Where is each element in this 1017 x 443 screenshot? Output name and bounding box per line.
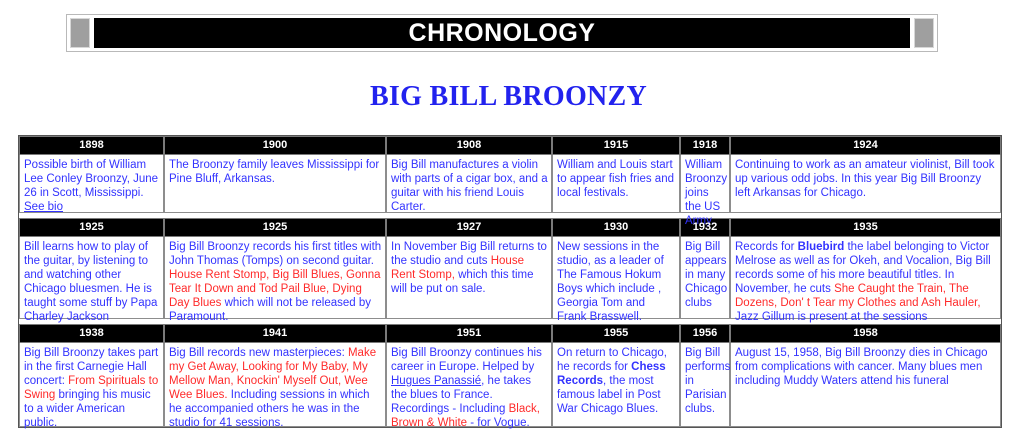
event-text-segment: Continuing to work as an amateur violini… — [735, 159, 995, 199]
event-cell: Possible birth of William Lee Conley Bro… — [19, 155, 164, 213]
event-text: August 15, 1958, Big Bill Broonzy dies i… — [730, 343, 1001, 427]
year-label: 1925 — [164, 218, 386, 237]
year-header-row: 193819411951195519561958 — [19, 324, 1001, 343]
year-label: 1927 — [386, 218, 552, 237]
year-label: 1938 — [19, 324, 164, 343]
event-text: Possible birth of William Lee Conley Bro… — [19, 155, 164, 213]
year-label: 1935 — [730, 218, 1001, 237]
event-cell: Records for Bluebird the label belonging… — [730, 237, 1001, 319]
year-label: 1915 — [552, 136, 680, 155]
event-cell: Big Bill Broonzy takes part in the first… — [19, 343, 164, 427]
event-cell: On return to Chicago, he records for Che… — [552, 343, 680, 427]
year-label: 1908 — [386, 136, 552, 155]
year-header-cell: 1941 — [164, 324, 386, 343]
year-label: 1956 — [680, 324, 730, 343]
event-text-segment: August 15, 1958, Big Bill Broonzy dies i… — [735, 347, 988, 387]
year-header-cell: 1938 — [19, 324, 164, 343]
year-label: 1941 — [164, 324, 386, 343]
year-header-cell: 1915 — [552, 136, 680, 155]
banner-right-cap — [914, 18, 934, 48]
event-text: William and Louis start to appear fish f… — [552, 155, 680, 213]
event-text-segment: The Broonzy family leaves Mississippi fo… — [169, 159, 379, 185]
year-label: 1900 — [164, 136, 386, 155]
event-text-segment: Big Bill appears in many Chicago clubs — [685, 241, 727, 309]
event-row: Possible birth of William Lee Conley Bro… — [19, 155, 1001, 213]
event-row: Bill learns how to play of the guitar, b… — [19, 237, 1001, 319]
event-text: William Broonzy joins the US Army. — [680, 155, 730, 213]
event-text-segment: New sessions in the studio, as a leader … — [557, 241, 664, 323]
year-header-row: 189819001908191519181924 — [19, 136, 1001, 155]
year-label: 1898 — [19, 136, 164, 155]
event-text: Big Bill performs in Parisian clubs. — [680, 343, 730, 427]
event-text: Continuing to work as an amateur violini… — [730, 155, 1001, 213]
event-cell: New sessions in the studio, as a leader … — [552, 237, 680, 319]
event-text: Bill learns how to play of the guitar, b… — [19, 237, 164, 319]
event-text: The Broonzy family leaves Mississippi fo… — [164, 155, 386, 213]
year-label: 1951 — [386, 324, 552, 343]
event-text: Big Bill records new masterpieces: Make … — [164, 343, 386, 427]
event-text: Big Bill Broonzy takes part in the first… — [19, 343, 164, 427]
event-text: New sessions in the studio, as a leader … — [552, 237, 680, 319]
event-text: Big Bill Broonzy continues his career in… — [386, 343, 552, 427]
chronology-banner: CHRONOLOGY — [66, 14, 938, 52]
event-text: Big Bill appears in many Chicago clubs — [680, 237, 730, 319]
banner-left-cap — [70, 18, 90, 48]
inline-link[interactable]: See bio — [24, 201, 63, 213]
year-header-cell: 1925 — [164, 218, 386, 237]
event-text-segment: Big Bill performs in Parisian clubs. — [685, 347, 730, 415]
year-label: 1958 — [730, 324, 1001, 343]
event-cell: William and Louis start to appear fish f… — [552, 155, 680, 213]
event-text-segment: Big Bill Broonzy records his first title… — [169, 241, 381, 267]
year-header-cell: 1951 — [386, 324, 552, 343]
event-text-segment: Records for — [735, 241, 798, 253]
year-label: 1918 — [680, 136, 730, 155]
event-cell: Big Bill records new masterpieces: Make … — [164, 343, 386, 427]
event-cell: The Broonzy family leaves Mississippi fo… — [164, 155, 386, 213]
event-cell: Continuing to work as an amateur violini… — [730, 155, 1001, 213]
event-cell: Big Bill Broonzy continues his career in… — [386, 343, 552, 427]
year-header-cell: 1924 — [730, 136, 1001, 155]
inline-link[interactable]: Hugues Panassié — [391, 375, 481, 387]
year-label: 1925 — [19, 218, 164, 237]
event-cell: Bill learns how to play of the guitar, b… — [19, 237, 164, 319]
event-text: Big Bill Broonzy records his first title… — [164, 237, 386, 319]
event-text-segment: Big Bill records new masterpieces: — [169, 347, 348, 359]
event-cell: Big Bill Broonzy records his first title… — [164, 237, 386, 319]
event-text-segment: Possible birth of William Lee Conley Bro… — [24, 159, 158, 199]
year-header-cell: 1925 — [19, 218, 164, 237]
banner-title: CHRONOLOGY — [409, 19, 596, 48]
year-header-cell: 1955 — [552, 324, 680, 343]
year-header-cell: 1898 — [19, 136, 164, 155]
event-cell: Big Bill performs in Parisian clubs. — [680, 343, 730, 427]
event-cell: Big Bill manufactures a violin with part… — [386, 155, 552, 213]
event-cell: In November Big Bill returns to the stud… — [386, 237, 552, 319]
event-text: On return to Chicago, he records for Che… — [552, 343, 680, 427]
event-text: In November Big Bill returns to the stud… — [386, 237, 552, 319]
year-header-cell: 1956 — [680, 324, 730, 343]
event-text: Records for Bluebird the label belonging… — [730, 237, 1001, 319]
event-cell: William Broonzy joins the US Army. — [680, 155, 730, 213]
event-text-segment: Jazz Gillum is present at the sessions — [735, 311, 927, 323]
year-header-cell: 1958 — [730, 324, 1001, 343]
banner-bar: CHRONOLOGY — [94, 18, 910, 48]
event-text-segment: - for Vogue. — [467, 417, 530, 429]
year-header-cell: 1918 — [680, 136, 730, 155]
year-header-cell: 1908 — [386, 136, 552, 155]
event-text: Big Bill manufactures a violin with part… — [386, 155, 552, 213]
chronology-timeline: 189819001908191519181924Possible birth o… — [18, 135, 1002, 428]
year-header-cell: 1900 — [164, 136, 386, 155]
year-header-cell: 1935 — [730, 218, 1001, 237]
year-label: 1955 — [552, 324, 680, 343]
event-cell: August 15, 1958, Big Bill Broonzy dies i… — [730, 343, 1001, 427]
year-header-row: 192519251927193019321935 — [19, 218, 1001, 237]
event-row: Big Bill Broonzy takes part in the first… — [19, 343, 1001, 427]
year-header-cell: 1930 — [552, 218, 680, 237]
event-text-segment: Big Bill Broonzy continues his career in… — [391, 347, 542, 373]
event-text-segment: William and Louis start to appear fish f… — [557, 159, 674, 199]
event-text-segment: Bill learns how to play of the guitar, b… — [24, 241, 157, 323]
page-title: BIG BILL BROONZY — [0, 81, 1017, 113]
year-label: 1930 — [552, 218, 680, 237]
year-header-cell: 1927 — [386, 218, 552, 237]
year-label: 1924 — [730, 136, 1001, 155]
event-cell: Big Bill appears in many Chicago clubs — [680, 237, 730, 319]
event-text-segment: Big Bill manufactures a violin with part… — [391, 159, 548, 213]
label-name-bold: Bluebird — [798, 241, 845, 253]
